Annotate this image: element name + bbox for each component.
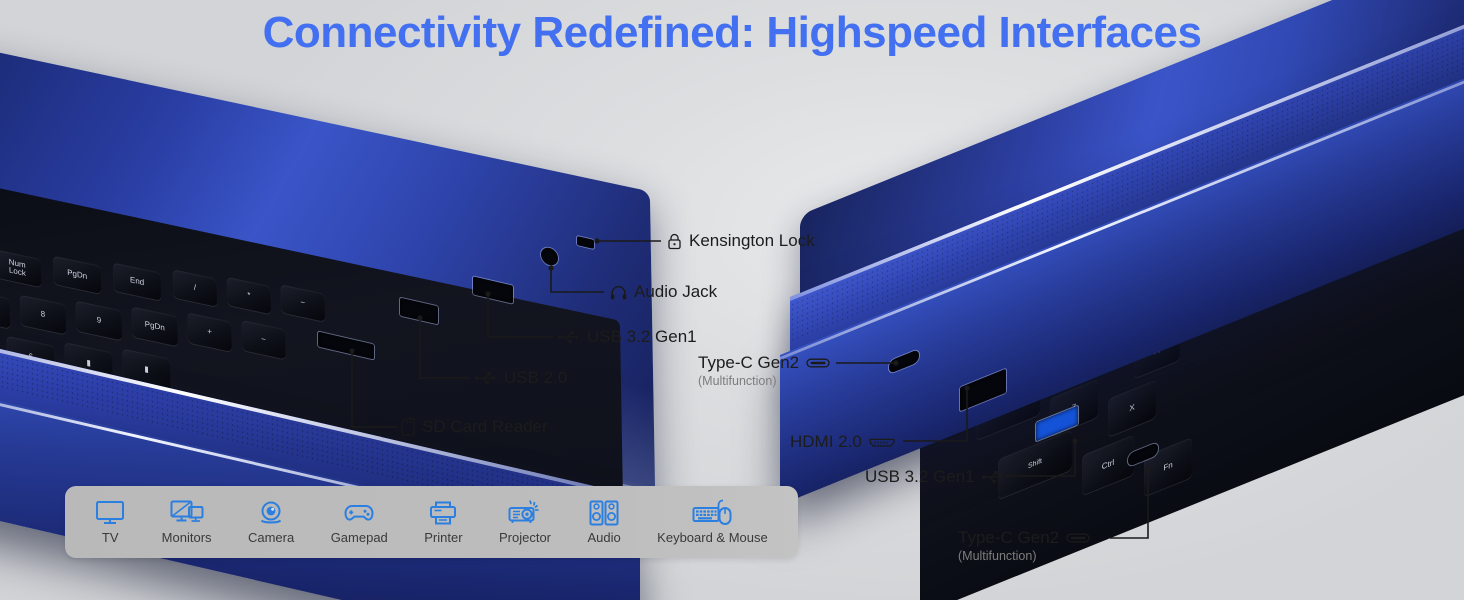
callout-usb-32-gen1-right: USB 3.2 Gen1 xyxy=(865,467,1004,487)
callout-label: USB 2.0 xyxy=(504,368,567,388)
hdmi-icon xyxy=(869,436,895,449)
device-label: Keyboard & Mouse xyxy=(657,530,768,545)
key: 8 xyxy=(20,295,67,335)
padlock-icon xyxy=(667,233,682,250)
usb-trident-icon xyxy=(475,371,497,385)
usb-trident-icon xyxy=(558,330,580,344)
device-item-projector[interactable]: Projector xyxy=(481,499,569,545)
gamepad-icon xyxy=(343,499,375,527)
key: * xyxy=(227,277,271,314)
device-label: TV xyxy=(102,530,119,545)
printer-icon xyxy=(429,499,457,527)
webcam-icon xyxy=(257,499,285,527)
callout-sublabel: (Multifunction) xyxy=(698,374,830,388)
key: PgDn xyxy=(53,256,101,294)
device-label: Monitors xyxy=(162,530,212,545)
left-laptop-image: ←Enter Home NumLock PgDn End / * − End 4… xyxy=(0,55,690,475)
projector-icon xyxy=(508,499,542,527)
usb-trident-icon xyxy=(982,470,1004,484)
device-label: Audio xyxy=(587,530,620,545)
key: Ctrl xyxy=(1082,435,1134,496)
device-item-tv[interactable]: TV xyxy=(77,499,143,545)
sd-card-icon xyxy=(401,418,415,436)
type-c-icon xyxy=(806,357,830,369)
callout-label: SD Card Reader xyxy=(422,417,548,437)
callout-label: Audio Jack xyxy=(634,282,717,302)
device-item-gamepad[interactable]: Gamepad xyxy=(312,499,406,545)
key: NumLock xyxy=(0,249,42,287)
key: PgDn xyxy=(132,306,179,346)
device-label: Camera xyxy=(248,530,294,545)
right-laptop-image: EscFnLock ~1 @2 W D Tab Q S A Caps Lock … xyxy=(800,225,1464,600)
key: / xyxy=(173,269,217,306)
key: 7 xyxy=(0,289,10,329)
key: 9 xyxy=(76,301,123,341)
callout-label: Type-C Gen2 xyxy=(958,528,1059,548)
device-label: Projector xyxy=(499,530,551,545)
callout-type-c-gen2-bottom: Type-C Gen2 (Multifunction) xyxy=(958,528,1090,563)
callout-hdmi-20: HDMI 2.0 xyxy=(790,432,895,452)
compatible-devices-strip: TV Monitors Camera Gamepad Printer xyxy=(65,486,798,558)
callout-row: Type-C Gen2 xyxy=(958,528,1090,548)
page-title: Connectivity Redefined: Highspeed Interf… xyxy=(0,8,1464,58)
device-item-audio[interactable]: Audio xyxy=(569,499,639,545)
product-image-canvas: ←Enter Home NumLock PgDn End / * − End 4… xyxy=(0,0,1464,600)
key: − xyxy=(281,284,325,321)
callout-label: USB 3.2 Gen1 xyxy=(865,467,975,487)
key: + xyxy=(187,312,232,352)
device-item-keyboard-mouse[interactable]: Keyboard & Mouse xyxy=(639,499,786,545)
callout-audio-jack: Audio Jack xyxy=(610,282,717,302)
tv-icon xyxy=(95,499,125,527)
keyboard-mouse-icon xyxy=(692,499,732,527)
callout-usb-20: USB 2.0 xyxy=(475,368,567,388)
key: End xyxy=(113,263,161,301)
device-item-printer[interactable]: Printer xyxy=(406,499,481,545)
callout-sublabel: (Multifunction) xyxy=(958,549,1090,563)
device-item-camera[interactable]: Camera xyxy=(230,499,313,545)
callout-usb-32-gen1-left: USB 3.2 Gen1 xyxy=(558,327,697,347)
device-label: Gamepad xyxy=(331,530,388,545)
monitor-icon xyxy=(170,499,204,527)
callout-label: Kensington Lock xyxy=(689,231,815,251)
callout-label: Type-C Gen2 xyxy=(698,353,799,373)
callout-type-c-gen2-top: Type-C Gen2 (Multifunction) xyxy=(698,353,830,388)
callout-kensington-lock: Kensington Lock xyxy=(667,231,815,251)
type-c-icon xyxy=(1066,532,1090,544)
callout-label: HDMI 2.0 xyxy=(790,432,862,452)
callout-row: Type-C Gen2 xyxy=(698,353,830,373)
device-item-monitors[interactable]: Monitors xyxy=(143,499,229,545)
callout-label: USB 3.2 Gen1 xyxy=(587,327,697,347)
callout-sd-card-reader: SD Card Reader xyxy=(401,417,548,437)
speakers-icon xyxy=(589,499,619,527)
device-label: Printer xyxy=(424,530,462,545)
key: X xyxy=(1108,380,1156,437)
headphone-icon xyxy=(610,285,627,300)
key: − xyxy=(241,320,286,360)
key: Shift xyxy=(998,430,1072,500)
